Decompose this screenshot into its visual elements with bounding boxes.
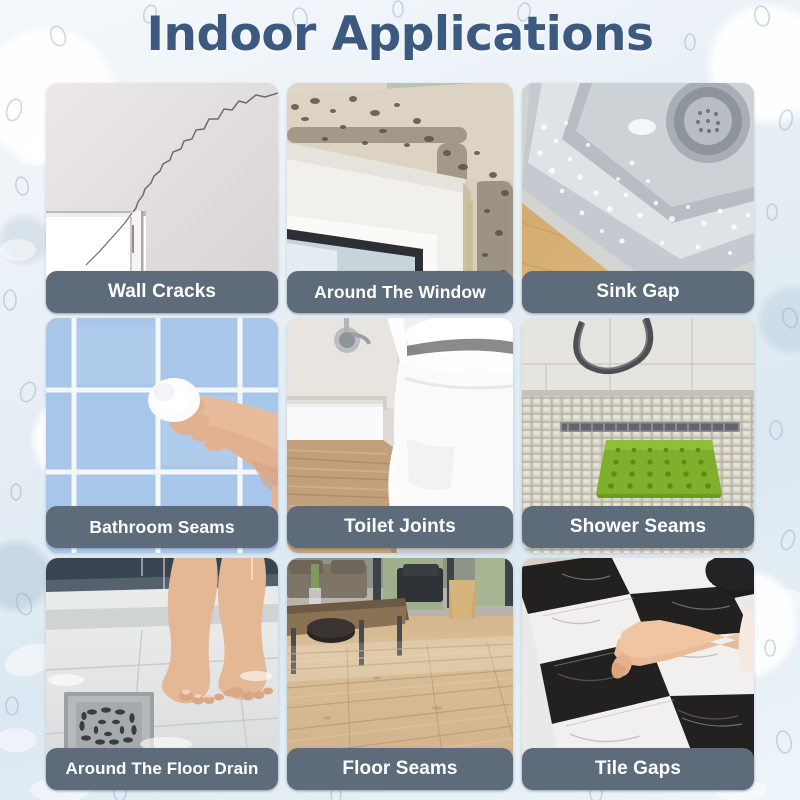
- caption-shower-seams: Shower Seams: [522, 506, 754, 548]
- application-card-around-the-floor-drain[interactable]: Around The Floor Drain: [46, 558, 278, 790]
- caption-toilet-joints: Toilet Joints: [287, 506, 513, 548]
- applications-grid: Wall Cracks: [46, 83, 755, 785]
- caption-tile-gaps: Tile Gaps: [522, 748, 754, 790]
- caption-around-the-floor-drain: Around The Floor Drain: [46, 748, 278, 790]
- application-card-around-the-window[interactable]: Around The Window: [287, 83, 513, 313]
- application-card-sink-gap[interactable]: Sink Gap: [522, 83, 754, 313]
- page-title: Indoor Applications: [0, 11, 800, 58]
- application-card-floor-seams[interactable]: Floor Seams: [287, 558, 513, 790]
- application-card-toilet-joints[interactable]: Toilet Joints: [287, 318, 513, 553]
- application-card-tile-gaps[interactable]: Tile Gaps: [522, 558, 754, 790]
- caption-sink-gap: Sink Gap: [522, 271, 754, 313]
- caption-wall-cracks: Wall Cracks: [46, 271, 278, 313]
- caption-around-the-window: Around The Window: [287, 271, 513, 313]
- application-card-shower-seams[interactable]: Shower Seams: [522, 318, 754, 553]
- application-card-wall-cracks[interactable]: Wall Cracks: [46, 83, 278, 313]
- caption-bathroom-seams: Bathroom Seams: [46, 506, 278, 548]
- caption-floor-seams: Floor Seams: [287, 748, 513, 790]
- indoor-applications-poster: Indoor Applications: [0, 0, 800, 800]
- application-card-bathroom-seams[interactable]: Bathroom Seams: [46, 318, 278, 553]
